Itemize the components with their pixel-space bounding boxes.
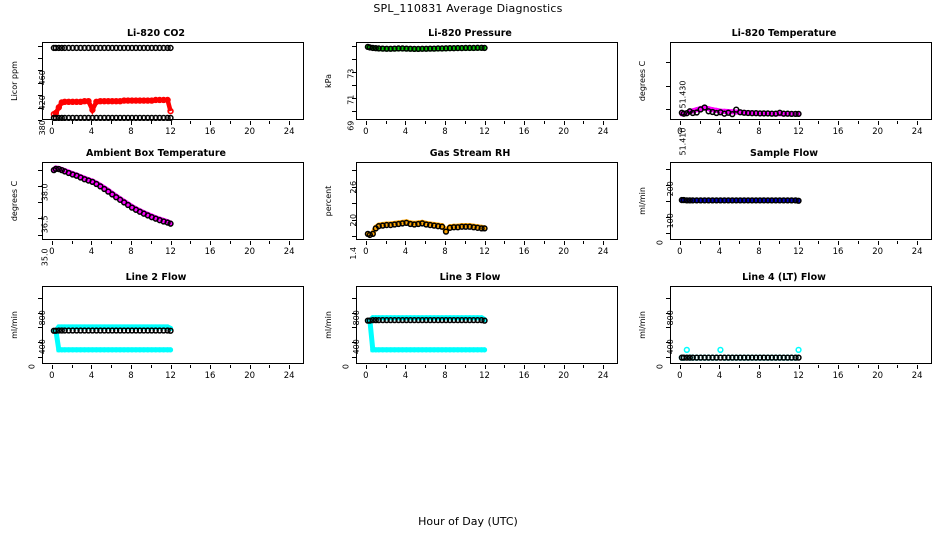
x-minor-tick bbox=[818, 121, 819, 124]
x-tick-label: 20 bbox=[238, 247, 262, 257]
x-minor-tick bbox=[779, 241, 780, 244]
x-minor-tick bbox=[700, 365, 701, 368]
x-tick bbox=[838, 365, 839, 369]
x-minor-tick bbox=[583, 121, 584, 124]
x-tick-label: 12 bbox=[473, 247, 497, 257]
x-tick-label: 0 bbox=[668, 371, 692, 381]
x-minor-tick bbox=[230, 241, 231, 244]
y-tick-label: 0 bbox=[342, 364, 351, 369]
x-tick-label: 20 bbox=[866, 127, 890, 137]
panel-li-820-pressure: Li-820 Pressure04812162024697173kPa bbox=[314, 28, 626, 138]
x-minor-tick bbox=[700, 241, 701, 244]
x-minor-tick bbox=[111, 241, 112, 244]
x-tick bbox=[564, 365, 565, 369]
x-minor-tick bbox=[230, 121, 231, 124]
x-tick-label: 8 bbox=[747, 371, 771, 381]
x-tick-label: 20 bbox=[238, 371, 262, 381]
x-tick bbox=[405, 365, 406, 369]
x-tick-label: 20 bbox=[552, 371, 576, 381]
y-tick bbox=[38, 58, 42, 59]
x-minor-tick bbox=[269, 241, 270, 244]
panel-title: Line 2 Flow bbox=[0, 272, 312, 283]
panel-title: Li-820 Temperature bbox=[628, 28, 936, 39]
y-tick bbox=[352, 111, 356, 112]
x-tick-label: 4 bbox=[79, 247, 103, 257]
x-tick bbox=[838, 121, 839, 125]
x-tick bbox=[445, 121, 446, 125]
x-minor-tick bbox=[858, 241, 859, 244]
x-tick-label: 8 bbox=[433, 247, 457, 257]
y-minor-tick bbox=[666, 313, 670, 314]
x-tick-label: 8 bbox=[433, 127, 457, 137]
panel-title: Gas Stream RH bbox=[314, 148, 626, 159]
x-tick-label: 24 bbox=[277, 371, 301, 381]
x-tick-label: 8 bbox=[119, 127, 143, 137]
x-tick-label: 20 bbox=[238, 127, 262, 137]
panel-gas-stream-rh: Gas Stream RH048121620241.42.02.6percent bbox=[314, 148, 626, 258]
x-tick bbox=[878, 121, 879, 125]
y-tick bbox=[666, 357, 670, 358]
y-tick bbox=[38, 170, 42, 171]
x-tick-label: 16 bbox=[198, 127, 222, 137]
x-minor-tick bbox=[544, 121, 545, 124]
x-tick-label: 0 bbox=[40, 371, 64, 381]
x-tick bbox=[250, 241, 251, 245]
x-minor-tick bbox=[465, 241, 466, 244]
panel-line-3-flow: Line 3 Flow048121620240400800ml/min bbox=[314, 272, 626, 382]
series-layer bbox=[43, 43, 305, 121]
y-tick bbox=[666, 62, 670, 63]
x-tick-label: 8 bbox=[747, 127, 771, 137]
y-axis-label: ml/min bbox=[10, 311, 19, 339]
x-tick-label: 8 bbox=[433, 371, 457, 381]
x-minor-tick bbox=[858, 365, 859, 368]
x-tick bbox=[52, 121, 53, 125]
x-tick bbox=[603, 121, 604, 125]
x-tick-label: 16 bbox=[198, 371, 222, 381]
x-tick-label: 0 bbox=[354, 127, 378, 137]
y-tick-label: 0 bbox=[656, 240, 665, 245]
y-tick-label: 51.430 bbox=[679, 81, 688, 109]
x-minor-tick bbox=[425, 121, 426, 124]
y-tick bbox=[352, 170, 356, 171]
x-minor-tick bbox=[111, 365, 112, 368]
x-tick-label: 12 bbox=[159, 127, 183, 137]
series-layer bbox=[43, 287, 305, 365]
x-tick-label: 8 bbox=[119, 371, 143, 381]
y-tick-label: 73 bbox=[347, 68, 356, 78]
x-tick bbox=[289, 365, 290, 369]
y-minor-tick bbox=[38, 95, 42, 96]
x-tick-label: 4 bbox=[393, 127, 417, 137]
y-minor-tick bbox=[666, 217, 670, 218]
x-minor-tick bbox=[386, 365, 387, 368]
series-layer bbox=[671, 287, 933, 365]
x-minor-tick bbox=[739, 121, 740, 124]
x-minor-tick bbox=[739, 241, 740, 244]
x-tick bbox=[680, 121, 681, 125]
y-minor-tick bbox=[666, 342, 670, 343]
x-minor-tick bbox=[190, 241, 191, 244]
x-tick bbox=[799, 365, 800, 369]
x-tick bbox=[445, 365, 446, 369]
x-minor-tick bbox=[465, 121, 466, 124]
series-mean bbox=[679, 355, 800, 360]
x-tick-label: 12 bbox=[473, 371, 497, 381]
x-tick-label: 4 bbox=[707, 127, 731, 137]
x-minor-tick bbox=[544, 241, 545, 244]
x-tick bbox=[524, 121, 525, 125]
panel-title: Line 4 (LT) Flow bbox=[628, 272, 936, 283]
y-tick-label: 380 bbox=[38, 120, 47, 135]
x-minor-tick bbox=[897, 121, 898, 124]
x-minor-tick bbox=[230, 365, 231, 368]
x-minor-tick bbox=[779, 365, 780, 368]
y-minor-tick bbox=[38, 218, 42, 219]
y-tick-label: 420 bbox=[38, 95, 47, 110]
x-tick bbox=[603, 365, 604, 369]
x-minor-tick bbox=[111, 121, 112, 124]
x-minor-tick bbox=[897, 241, 898, 244]
x-minor-tick bbox=[858, 121, 859, 124]
x-tick bbox=[366, 241, 367, 245]
x-tick bbox=[250, 121, 251, 125]
x-tick-label: 12 bbox=[159, 371, 183, 381]
x-tick bbox=[485, 365, 486, 369]
y-tick bbox=[352, 203, 356, 204]
x-tick-label: 4 bbox=[79, 371, 103, 381]
x-tick bbox=[759, 241, 760, 245]
x-tick bbox=[838, 241, 839, 245]
x-tick bbox=[878, 241, 879, 245]
y-tick bbox=[38, 202, 42, 203]
x-tick-label: 0 bbox=[668, 247, 692, 257]
x-tick bbox=[171, 241, 172, 245]
y-tick-label: 69 bbox=[347, 120, 356, 130]
figure-xaxis-label: Hour of Day (UTC) bbox=[0, 515, 936, 528]
x-tick-label: 12 bbox=[787, 127, 811, 137]
x-tick bbox=[759, 121, 760, 125]
y-tick-label: 100 bbox=[666, 213, 675, 228]
x-minor-tick bbox=[425, 365, 426, 368]
x-tick-label: 24 bbox=[591, 371, 615, 381]
x-tick bbox=[878, 365, 879, 369]
x-tick bbox=[210, 121, 211, 125]
x-tick bbox=[210, 241, 211, 245]
panel-ambient-box-temperature: Ambient Box Temperature0481216202435.036… bbox=[0, 148, 312, 258]
x-tick bbox=[366, 365, 367, 369]
y-tick bbox=[352, 298, 356, 299]
y-tick-label: 71 bbox=[347, 94, 356, 104]
x-minor-tick bbox=[190, 121, 191, 124]
y-tick bbox=[666, 169, 670, 170]
y-tick bbox=[666, 109, 670, 110]
y-minor-tick bbox=[38, 313, 42, 314]
x-tick-label: 20 bbox=[552, 127, 576, 137]
x-minor-tick bbox=[818, 241, 819, 244]
x-minor-tick bbox=[425, 241, 426, 244]
y-axis-label: kPa bbox=[324, 74, 333, 88]
x-tick bbox=[250, 365, 251, 369]
x-tick-label: 24 bbox=[905, 127, 929, 137]
y-axis-label: ml/min bbox=[638, 187, 647, 215]
y-minor-tick bbox=[38, 186, 42, 187]
x-minor-tick bbox=[504, 241, 505, 244]
x-tick-label: 12 bbox=[787, 371, 811, 381]
y-tick bbox=[352, 327, 356, 328]
panel-title: Sample Flow bbox=[628, 148, 936, 159]
series-layer bbox=[357, 163, 619, 241]
x-tick-label: 16 bbox=[826, 371, 850, 381]
x-tick bbox=[603, 241, 604, 245]
y-minor-tick bbox=[352, 342, 356, 343]
x-minor-tick bbox=[151, 241, 152, 244]
x-tick bbox=[485, 241, 486, 245]
x-tick-label: 4 bbox=[707, 247, 731, 257]
x-tick bbox=[289, 121, 290, 125]
x-minor-tick bbox=[72, 121, 73, 124]
panel-sample-flow: Sample Flow048121620240100200ml/min bbox=[628, 148, 936, 258]
x-tick-label: 16 bbox=[198, 247, 222, 257]
x-minor-tick bbox=[386, 241, 387, 244]
y-tick-label: 460 bbox=[38, 70, 47, 85]
panel-title: Li-820 Pressure bbox=[314, 28, 626, 39]
x-tick bbox=[91, 121, 92, 125]
y-minor-tick bbox=[38, 70, 42, 71]
x-minor-tick bbox=[897, 365, 898, 368]
x-tick-label: 24 bbox=[905, 371, 929, 381]
y-minor-tick bbox=[352, 187, 356, 188]
x-tick bbox=[719, 365, 720, 369]
y-minor-tick bbox=[38, 120, 42, 121]
y-minor-tick bbox=[666, 86, 670, 87]
x-tick bbox=[52, 241, 53, 245]
x-tick-label: 4 bbox=[79, 127, 103, 137]
x-tick bbox=[524, 365, 525, 369]
x-tick bbox=[91, 365, 92, 369]
x-tick bbox=[366, 121, 367, 125]
x-tick-label: 16 bbox=[826, 247, 850, 257]
panel-title: Line 3 Flow bbox=[314, 272, 626, 283]
x-minor-tick bbox=[779, 121, 780, 124]
x-minor-tick bbox=[269, 365, 270, 368]
x-minor-tick bbox=[151, 365, 152, 368]
x-tick bbox=[564, 121, 565, 125]
panel-line-4-lt-flow: Line 4 (LT) Flow048121620240400800ml/min bbox=[628, 272, 936, 382]
diagnostics-figure: SPL_110831 Average Diagnostics Hour of D… bbox=[0, 0, 936, 540]
y-minor-tick bbox=[352, 98, 356, 99]
x-tick bbox=[524, 241, 525, 245]
x-tick bbox=[171, 365, 172, 369]
x-tick-label: 12 bbox=[473, 127, 497, 137]
x-tick-label: 4 bbox=[707, 371, 731, 381]
panel-li-820-temperature: Li-820 Temperature0481216202451.41051.43… bbox=[628, 28, 936, 138]
y-tick-label: 35.0 bbox=[40, 248, 49, 266]
x-minor-tick bbox=[700, 121, 701, 124]
x-tick-label: 12 bbox=[159, 247, 183, 257]
series-layer bbox=[357, 287, 619, 365]
x-tick-label: 20 bbox=[866, 247, 890, 257]
y-tick bbox=[38, 235, 42, 236]
y-axis-label: ml/min bbox=[638, 311, 647, 339]
x-tick bbox=[799, 241, 800, 245]
y-tick bbox=[38, 357, 42, 358]
y-minor-tick bbox=[352, 220, 356, 221]
series-layer bbox=[43, 163, 305, 241]
y-minor-tick bbox=[352, 313, 356, 314]
x-minor-tick bbox=[583, 365, 584, 368]
x-tick-label: 20 bbox=[866, 371, 890, 381]
x-minor-tick bbox=[544, 365, 545, 368]
x-tick bbox=[289, 241, 290, 245]
x-tick bbox=[91, 241, 92, 245]
y-tick bbox=[352, 236, 356, 237]
x-tick bbox=[799, 121, 800, 125]
series-max bbox=[51, 46, 172, 51]
x-tick bbox=[131, 121, 132, 125]
x-tick bbox=[405, 241, 406, 245]
x-minor-tick bbox=[583, 241, 584, 244]
x-minor-tick bbox=[151, 121, 152, 124]
x-minor-tick bbox=[190, 365, 191, 368]
y-minor-tick bbox=[38, 342, 42, 343]
y-tick bbox=[352, 59, 356, 60]
series-layer bbox=[671, 43, 933, 121]
x-tick bbox=[917, 365, 918, 369]
series-layer bbox=[357, 43, 619, 121]
panel-li-820-co2: Li-820 CO204812162024380420460Licor ppm bbox=[0, 28, 312, 138]
x-minor-tick bbox=[504, 121, 505, 124]
x-tick bbox=[445, 241, 446, 245]
x-tick bbox=[759, 365, 760, 369]
y-tick-label: 0 bbox=[656, 364, 665, 369]
x-minor-tick bbox=[739, 365, 740, 368]
x-tick bbox=[485, 121, 486, 125]
x-minor-tick bbox=[465, 365, 466, 368]
x-tick-label: 16 bbox=[826, 127, 850, 137]
series-min bbox=[51, 116, 172, 121]
x-tick bbox=[564, 241, 565, 245]
y-tick bbox=[352, 85, 356, 86]
panel-title: Ambient Box Temperature bbox=[0, 148, 312, 159]
x-tick-label: 8 bbox=[119, 247, 143, 257]
panel-line-2-flow: Line 2 Flow048121620240400800ml/min bbox=[0, 272, 312, 382]
x-tick-label: 0 bbox=[354, 371, 378, 381]
series-mean bbox=[51, 98, 172, 117]
x-minor-tick bbox=[504, 365, 505, 368]
series-min-band bbox=[51, 328, 173, 352]
x-tick-label: 16 bbox=[512, 247, 536, 257]
y-axis-label: Licor ppm bbox=[10, 61, 19, 101]
x-tick bbox=[680, 365, 681, 369]
x-minor-tick bbox=[386, 121, 387, 124]
series-points bbox=[51, 166, 172, 226]
y-minor-tick bbox=[38, 46, 42, 47]
y-tick bbox=[666, 327, 670, 328]
x-tick-label: 24 bbox=[277, 247, 301, 257]
x-tick-label: 24 bbox=[905, 247, 929, 257]
y-tick-label: 0 bbox=[28, 364, 37, 369]
y-minor-tick bbox=[352, 72, 356, 73]
x-tick bbox=[405, 121, 406, 125]
x-minor-tick bbox=[72, 365, 73, 368]
y-axis-label: degrees C bbox=[638, 61, 647, 101]
x-tick-label: 12 bbox=[787, 247, 811, 257]
y-tick bbox=[666, 201, 670, 202]
x-minor-tick bbox=[72, 241, 73, 244]
y-tick bbox=[666, 298, 670, 299]
x-tick bbox=[52, 365, 53, 369]
y-tick bbox=[352, 357, 356, 358]
x-tick bbox=[719, 121, 720, 125]
x-tick-label: 4 bbox=[393, 371, 417, 381]
x-tick-label: 16 bbox=[512, 371, 536, 381]
y-tick-label: 1.4 bbox=[349, 247, 358, 260]
x-tick bbox=[131, 365, 132, 369]
y-axis-label: percent bbox=[324, 186, 333, 217]
y-minor-tick bbox=[666, 185, 670, 186]
x-tick bbox=[917, 121, 918, 125]
x-tick-label: 24 bbox=[277, 127, 301, 137]
panel-title: Li-820 CO2 bbox=[0, 28, 312, 39]
y-tick-label: 200 bbox=[666, 181, 675, 196]
x-minor-tick bbox=[269, 121, 270, 124]
figure-title: SPL_110831 Average Diagnostics bbox=[0, 2, 936, 15]
x-tick bbox=[210, 365, 211, 369]
y-axis-label: degrees C bbox=[10, 181, 19, 221]
series-layer bbox=[671, 163, 933, 241]
y-tick bbox=[38, 298, 42, 299]
x-tick-label: 8 bbox=[747, 247, 771, 257]
x-minor-tick bbox=[818, 365, 819, 368]
x-tick bbox=[680, 241, 681, 245]
x-tick-label: 24 bbox=[591, 127, 615, 137]
x-tick bbox=[131, 241, 132, 245]
y-axis-label: ml/min bbox=[324, 311, 333, 339]
x-tick-label: 4 bbox=[393, 247, 417, 257]
x-tick bbox=[917, 241, 918, 245]
y-minor-tick bbox=[352, 46, 356, 47]
x-tick bbox=[171, 121, 172, 125]
y-tick bbox=[666, 233, 670, 234]
x-tick bbox=[719, 241, 720, 245]
x-tick-label: 20 bbox=[552, 247, 576, 257]
x-tick-label: 24 bbox=[591, 247, 615, 257]
y-tick bbox=[38, 327, 42, 328]
x-tick-label: 16 bbox=[512, 127, 536, 137]
